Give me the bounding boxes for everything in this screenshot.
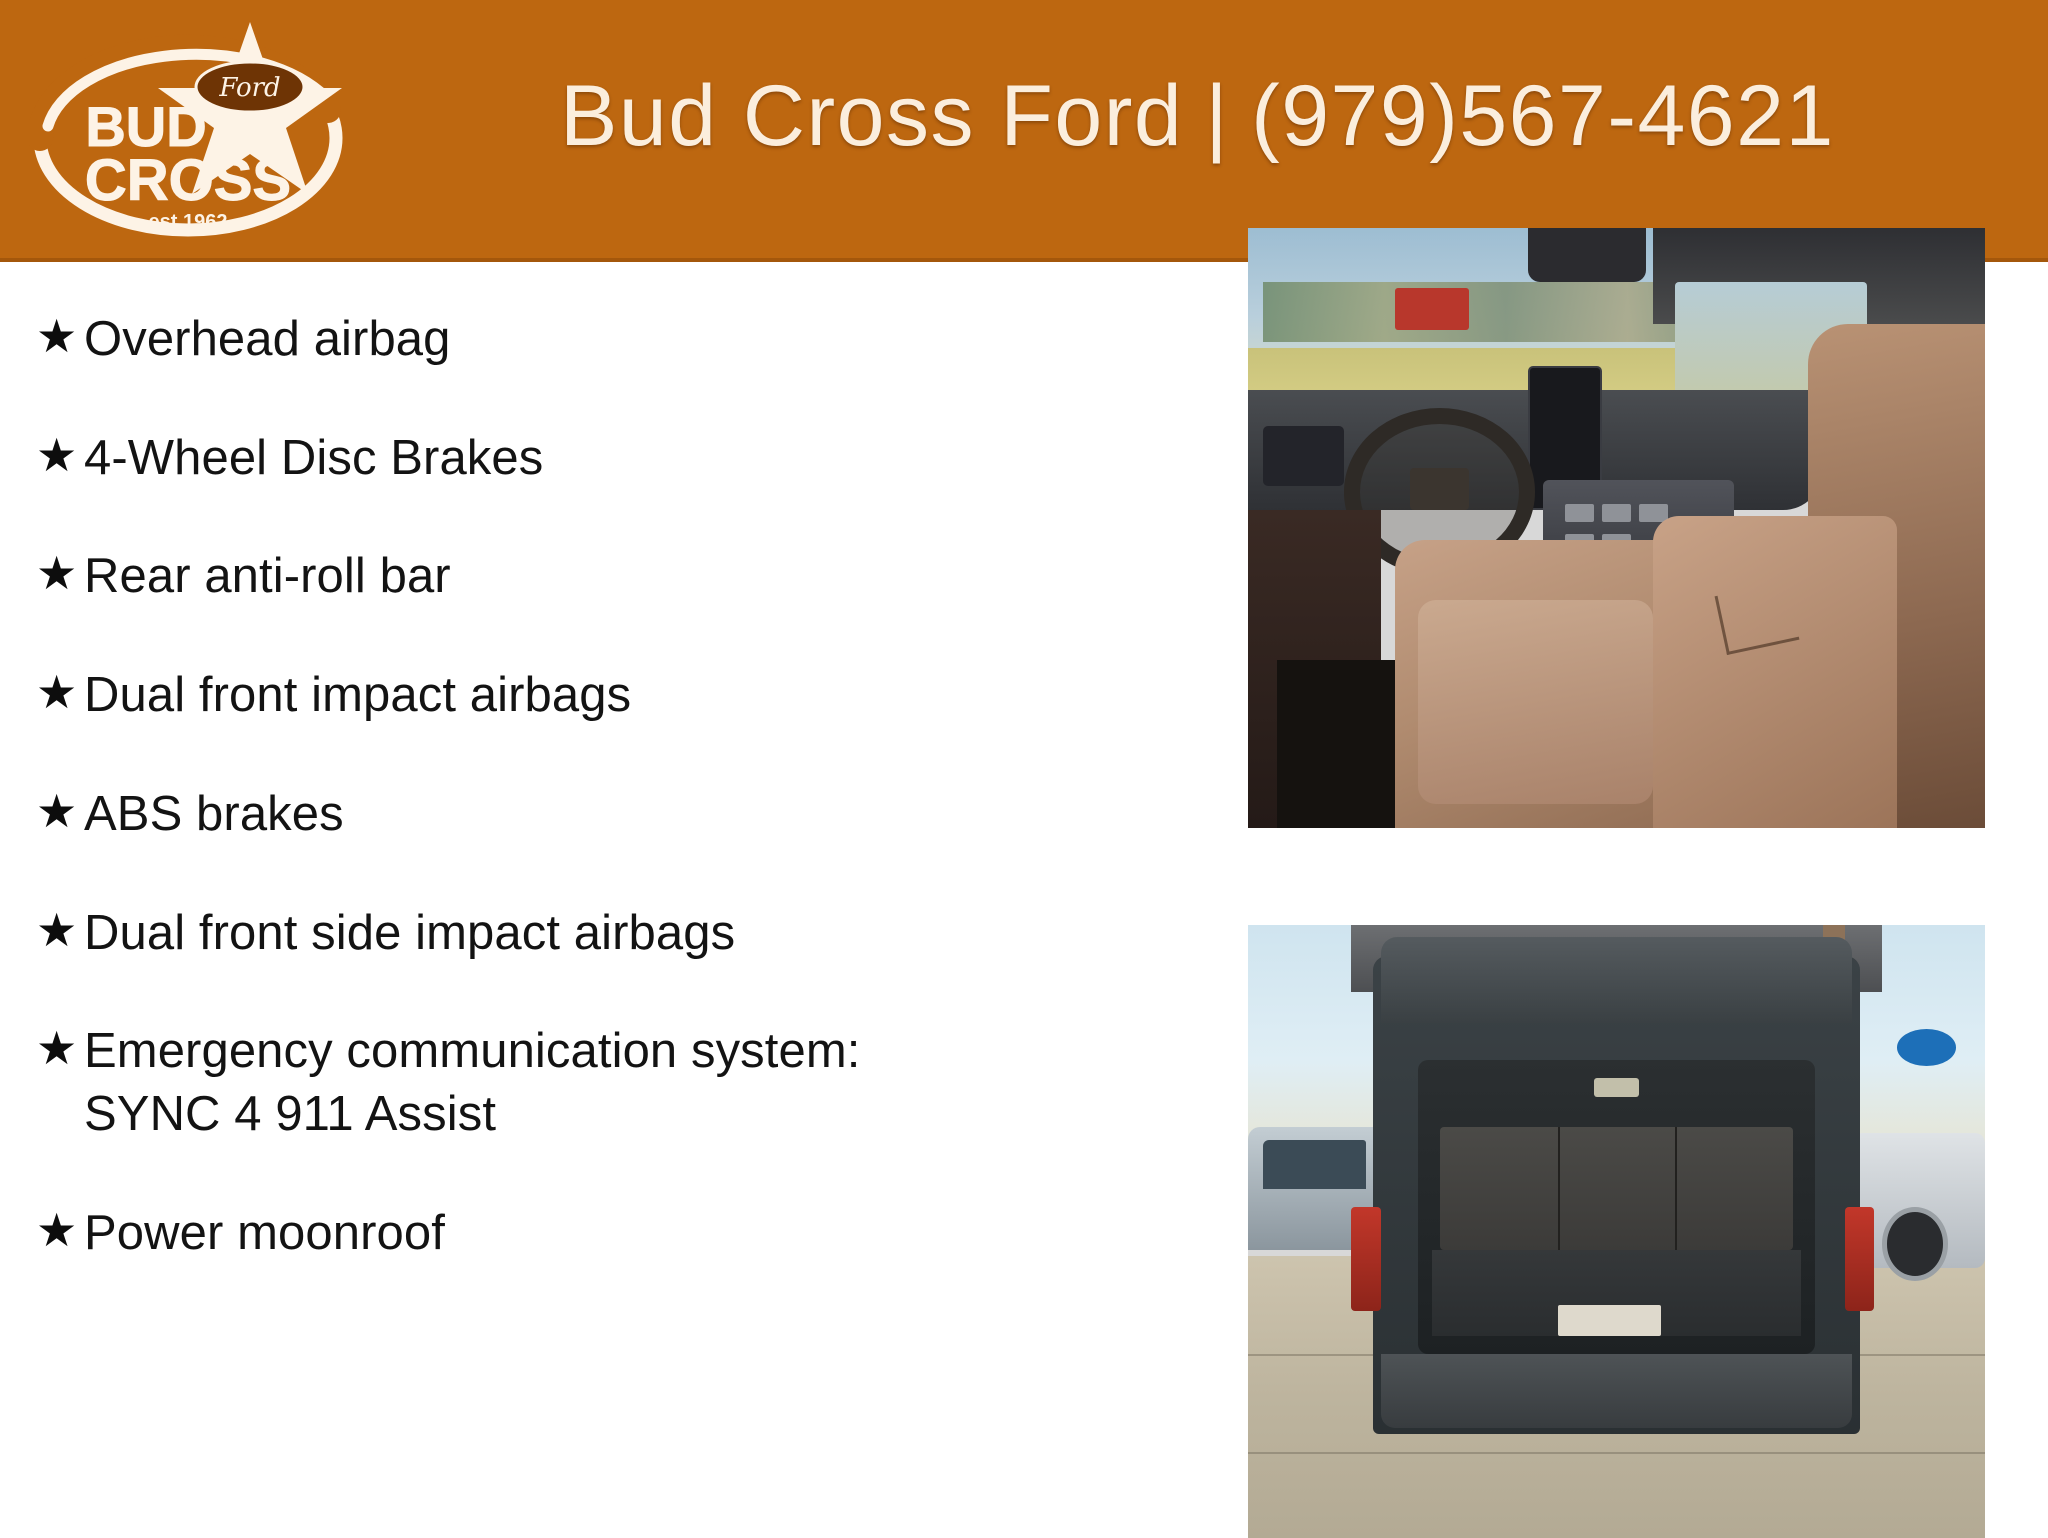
- vehicle-cargo-photo[interactable]: [1248, 925, 1985, 1538]
- star-bullet-icon: ★: [18, 783, 84, 839]
- console-button: [1565, 504, 1594, 522]
- feature-label: ABS brakes: [84, 783, 1200, 846]
- vehicle-interior-photo-content: [1248, 228, 1985, 828]
- console-button: [1639, 504, 1668, 522]
- cargo-dome-light: [1594, 1078, 1638, 1096]
- feature-item-power-moonroof: ★ Power moonroof: [18, 1202, 1200, 1265]
- open-liftgate: [1381, 937, 1853, 1023]
- console-button: [1602, 504, 1631, 522]
- driver-seat-cushion: [1418, 600, 1654, 804]
- feature-label: Dual front side impact airbags: [84, 902, 1200, 965]
- red-vehicle-background: [1395, 288, 1469, 330]
- rear-seat-divider: [1558, 1127, 1560, 1250]
- star-bullet-icon: ★: [18, 902, 84, 958]
- header-title: Bud Cross Ford | (979)567-4621: [560, 56, 2030, 176]
- steering-wheel-hub: [1410, 468, 1469, 510]
- feature-label: 4-Wheel Disc Brakes: [84, 427, 1200, 490]
- vehicle-interior-photo[interactable]: [1248, 228, 1985, 828]
- feature-item-dual-front-impact-airbags: ★ Dual front impact airbags: [18, 664, 1200, 727]
- adjacent-vehicle-left-window: [1263, 1140, 1366, 1189]
- feature-item-emergency-communication-system: ★ Emergency communication system: SYNC 4…: [18, 1020, 1200, 1145]
- page-content: ★ Overhead airbag ★ 4-Wheel Disc Brakes …: [0, 262, 2048, 1536]
- adjacent-vehicle-right-wheel: [1882, 1207, 1948, 1281]
- feature-item-4-wheel-disc-brakes: ★ 4-Wheel Disc Brakes: [18, 427, 1200, 490]
- feature-label: Overhead airbag: [84, 308, 1200, 371]
- vehicle-cargo-photo-content: [1248, 925, 1985, 1538]
- feature-label: Rear anti-roll bar: [84, 545, 1200, 608]
- rearview-mirror: [1528, 228, 1646, 282]
- svg-text:est.1962: est.1962: [149, 211, 228, 233]
- license-plate: [1558, 1305, 1661, 1336]
- dealer-logo[interactable]: Ford BUD CROSS est.1962: [28, 14, 368, 248]
- folded-rear-seats: [1440, 1127, 1794, 1250]
- bud-cross-ford-logo-icon: Ford BUD CROSS est.1962: [28, 14, 368, 248]
- feature-label: Dual front impact airbags: [84, 664, 1200, 727]
- star-bullet-icon: ★: [18, 308, 84, 364]
- driver-seat-back: [1653, 516, 1896, 828]
- air-vent: [1263, 426, 1344, 486]
- feature-item-overhead-airbag: ★ Overhead airbag: [18, 308, 1200, 371]
- feature-item-rear-anti-roll-bar: ★ Rear anti-roll bar: [18, 545, 1200, 608]
- feature-item-abs-brakes: ★ ABS brakes: [18, 783, 1200, 846]
- header-separator: |: [1183, 67, 1251, 166]
- feature-item-dual-front-side-impact-airbags: ★ Dual front side impact airbags: [18, 902, 1200, 965]
- rear-seat-divider: [1675, 1127, 1677, 1250]
- star-bullet-icon: ★: [18, 545, 84, 601]
- star-bullet-icon: ★: [18, 427, 84, 483]
- rear-bumper: [1381, 1354, 1853, 1428]
- star-bullet-icon: ★: [18, 1020, 84, 1076]
- dealer-phone[interactable]: (979)567-4621: [1251, 67, 1835, 166]
- vehicle-features-list: ★ Overhead airbag ★ 4-Wheel Disc Brakes …: [0, 262, 1200, 1536]
- taillight-right: [1845, 1207, 1874, 1311]
- feature-label: Power moonroof: [84, 1202, 1200, 1265]
- star-bullet-icon: ★: [18, 1202, 84, 1258]
- pavement-seam: [1248, 1452, 1985, 1454]
- dealer-sign: [1897, 1029, 1956, 1066]
- dealer-name: Bud Cross Ford: [560, 67, 1183, 166]
- svg-text:CROSS: CROSS: [85, 148, 291, 213]
- taillight-left: [1351, 1207, 1380, 1311]
- feature-label: Emergency communication system: SYNC 4 9…: [84, 1020, 1200, 1145]
- svg-text:Ford: Ford: [218, 73, 280, 103]
- page-header: Ford BUD CROSS est.1962 Bud Cross Ford |…: [0, 0, 2048, 262]
- star-bullet-icon: ★: [18, 664, 84, 720]
